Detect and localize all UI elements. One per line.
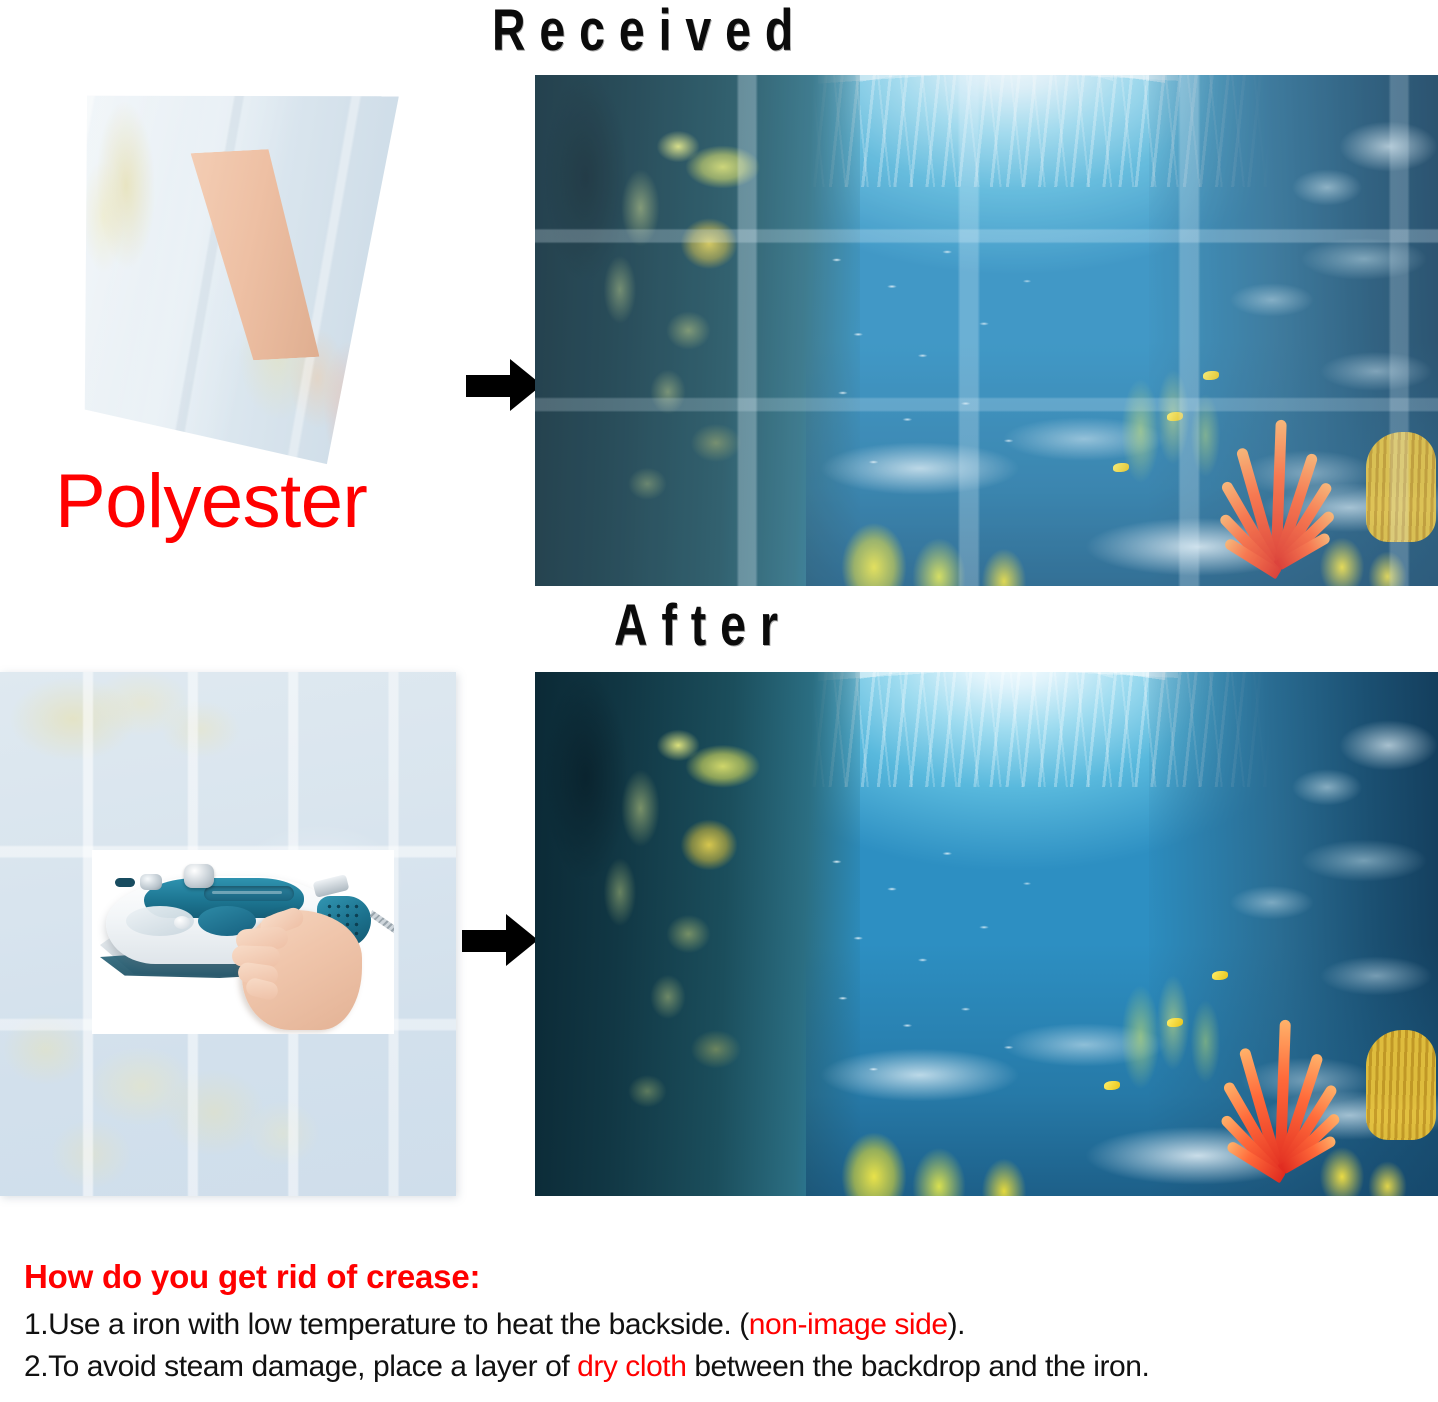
steam-iron-icon — [92, 850, 394, 1034]
iron-steam-button — [140, 874, 162, 890]
hand — [242, 910, 362, 1030]
instruction-line-1: 1.Use a iron with low temperature to hea… — [24, 1308, 1424, 1342]
iron-photo-card — [92, 850, 394, 1034]
iron-temperature-knob — [184, 864, 214, 888]
instruction-line-2: 2.To avoid steam damage, place a layer o… — [24, 1350, 1424, 1384]
instruction-1-prefix: 1.Use a iron with low temperature to hea… — [24, 1308, 749, 1341]
arrow-shaft — [462, 930, 510, 952]
instructions-block: How do you get rid of crease: 1.Use a ir… — [24, 1258, 1424, 1392]
page-title-after: After — [614, 592, 792, 659]
folded-fabric-image — [7, 79, 406, 478]
reef-image-after — [535, 672, 1438, 1196]
iron-spray-button — [174, 916, 190, 929]
fish-school — [806, 228, 1113, 494]
yellow-sponge — [1366, 1030, 1436, 1140]
yellow-fish-icon — [1104, 1081, 1120, 1090]
yellow-fish-icon — [1212, 971, 1228, 980]
yellow-sponge — [1366, 432, 1436, 542]
arrow-head — [506, 914, 538, 966]
instruction-2-suffix: between the backdrop and the iron. — [686, 1350, 1149, 1383]
reef-image-received — [535, 75, 1438, 586]
red-coral — [1210, 408, 1342, 570]
yellow-fish-icon — [1167, 1018, 1183, 1027]
material-label-polyester: Polyester — [55, 458, 367, 545]
fabric-fold-lines — [7, 79, 406, 478]
instructions-heading: How do you get rid of crease: — [24, 1258, 1424, 1296]
page-title-received: Received — [492, 0, 807, 64]
arrow-shaft — [466, 375, 514, 397]
iron-cord-clip — [313, 874, 350, 898]
instruction-1-suffix: ). — [948, 1308, 965, 1341]
instruction-1-highlight: non-image side — [749, 1308, 948, 1341]
instruction-2-prefix: 2.To avoid steam damage, place a layer o… — [24, 1350, 577, 1383]
instruction-2-highlight: dry cloth — [577, 1350, 686, 1383]
red-coral — [1214, 1012, 1346, 1174]
fish-school — [806, 829, 1113, 1101]
iron-steam-vent — [204, 886, 294, 901]
iron-switch — [115, 878, 135, 887]
